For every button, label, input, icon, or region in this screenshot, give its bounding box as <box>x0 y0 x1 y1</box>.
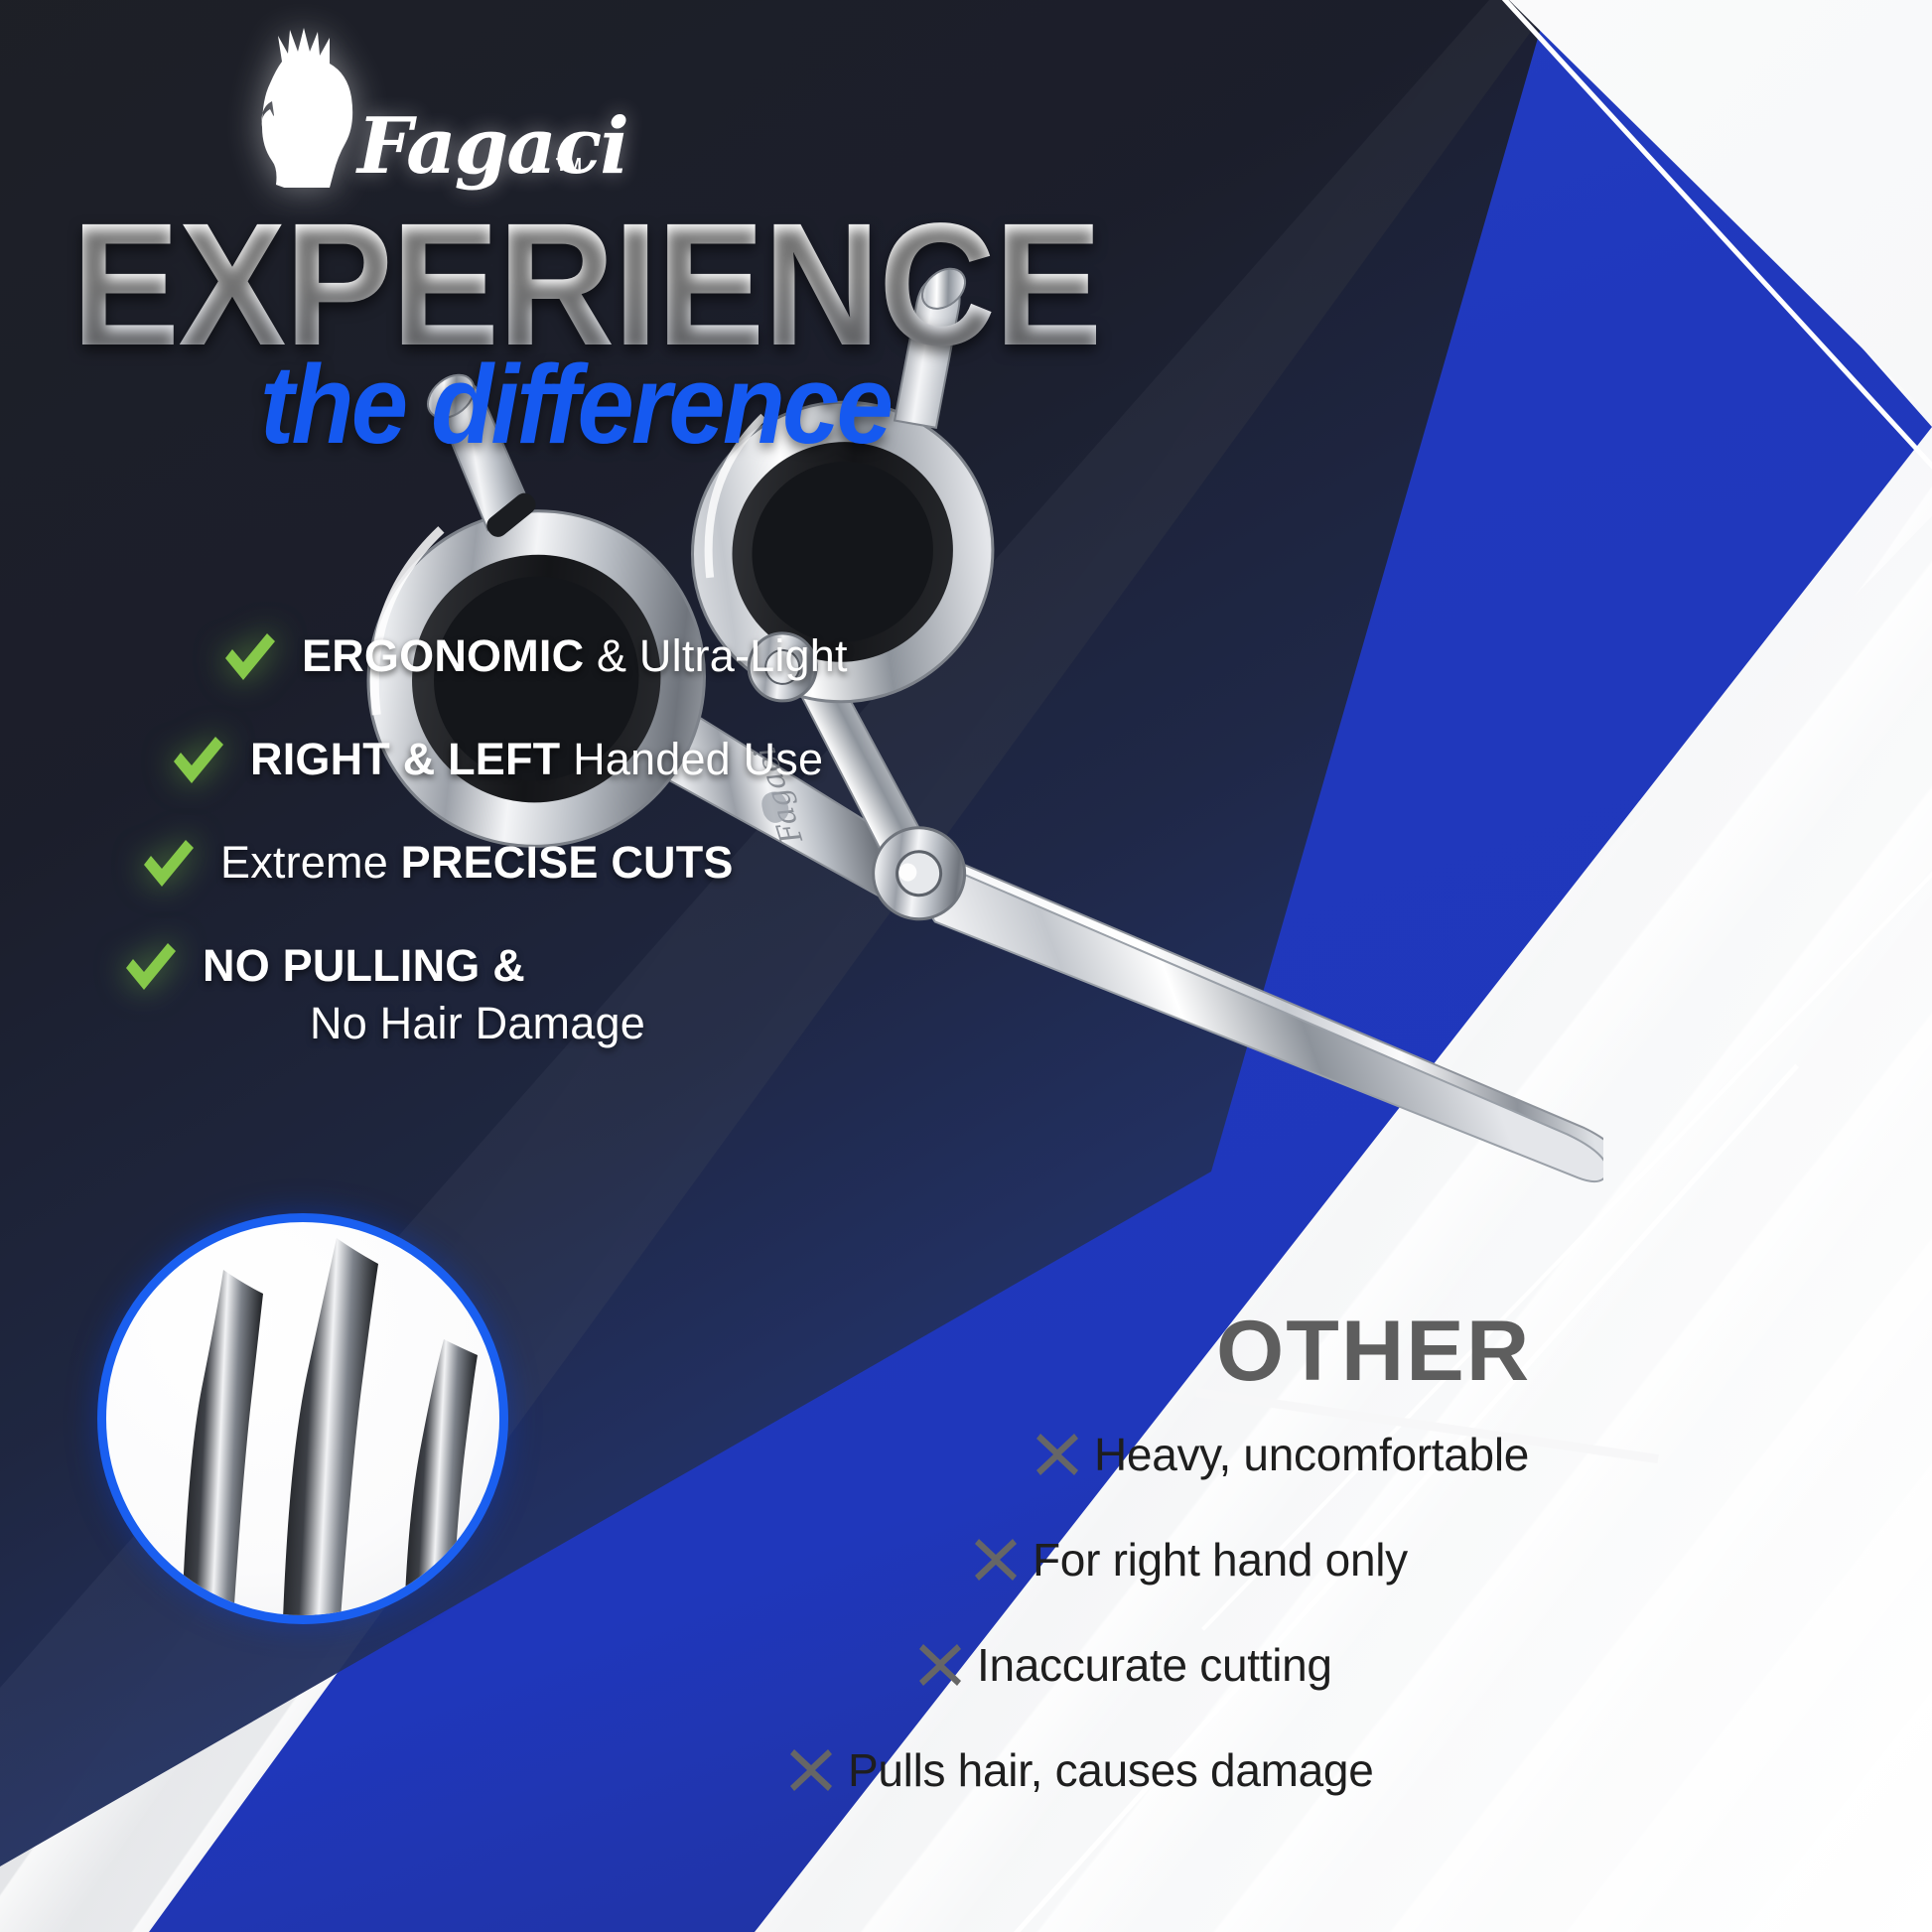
gray-x-icon <box>788 1747 834 1793</box>
comparison-text: For right hand only <box>1033 1533 1408 1587</box>
page-subtitle: the difference <box>260 349 891 461</box>
gray-x-icon <box>1035 1432 1080 1477</box>
comparison-list: Heavy, uncomfortable For right hand only… <box>973 1428 1866 1849</box>
benefit-strong: ERGONOMIC <box>302 630 584 681</box>
benefit-text: ERGONOMIC & Ultra-Light <box>302 625 848 685</box>
comparison-text: Heavy, uncomfortable <box>1094 1428 1529 1481</box>
comparison-item: Inaccurate cutting <box>917 1638 1866 1692</box>
product-infographic: Fagaci <box>0 0 1932 1932</box>
benefit-item: ERGONOMIC & Ultra-Light <box>218 625 1072 689</box>
green-check-icon <box>137 834 199 896</box>
brand-logo: Fagaci TM <box>220 24 588 193</box>
benefit-text: RIGHT & LEFT Handed Use <box>250 729 823 788</box>
comparison-item: For right hand only <box>973 1533 1866 1587</box>
comparison-text: Pulls hair, causes damage <box>848 1743 1373 1797</box>
benefit-rest: Extreme <box>220 837 401 888</box>
comparison-title: OTHER <box>1216 1303 1531 1401</box>
benefit-strong: RIGHT & LEFT <box>250 734 560 784</box>
blade-tip-2 <box>283 1238 378 1619</box>
brand-wordmark: Fagaci <box>357 101 627 192</box>
benefit-item: RIGHT & LEFT Handed Use <box>167 729 1072 792</box>
green-check-icon <box>167 731 228 792</box>
comparison-item: Pulls hair, causes damage <box>788 1743 1866 1797</box>
blade-closeup-inset <box>97 1213 508 1624</box>
benefits-list: ERGONOMIC & Ultra-Light RIGHT & LEFT Han… <box>119 625 1072 1091</box>
trademark-mark: TM <box>556 155 582 176</box>
benefit-item: NO PULLING &No Hair Damage <box>119 935 1072 1051</box>
comparison-item: Heavy, uncomfortable <box>1035 1428 1866 1481</box>
green-check-icon <box>218 627 280 689</box>
gray-x-icon <box>973 1537 1019 1583</box>
comparison-text: Inaccurate cutting <box>977 1638 1332 1692</box>
benefit-strong: PRECISE CUTS <box>401 837 734 888</box>
benefit-text: Extreme PRECISE CUTS <box>220 832 734 892</box>
page-title: EXPERIENCE <box>71 210 1101 360</box>
benefit-text: NO PULLING &No Hair Damage <box>203 935 645 1051</box>
blade-tips-closeup-icon <box>106 1222 503 1619</box>
gray-x-icon <box>917 1642 963 1688</box>
benefit-second-line: No Hair Damage <box>203 995 645 1052</box>
green-check-icon <box>119 937 181 999</box>
benefit-rest: & Ultra-Light <box>584 630 847 681</box>
blade-tip-1 <box>182 1270 263 1619</box>
benefit-item: Extreme PRECISE CUTS <box>137 832 1072 896</box>
benefit-strong: NO PULLING & <box>203 940 525 991</box>
mohawk-head-silhouette-icon <box>220 24 369 188</box>
benefit-rest: Handed Use <box>560 734 823 784</box>
